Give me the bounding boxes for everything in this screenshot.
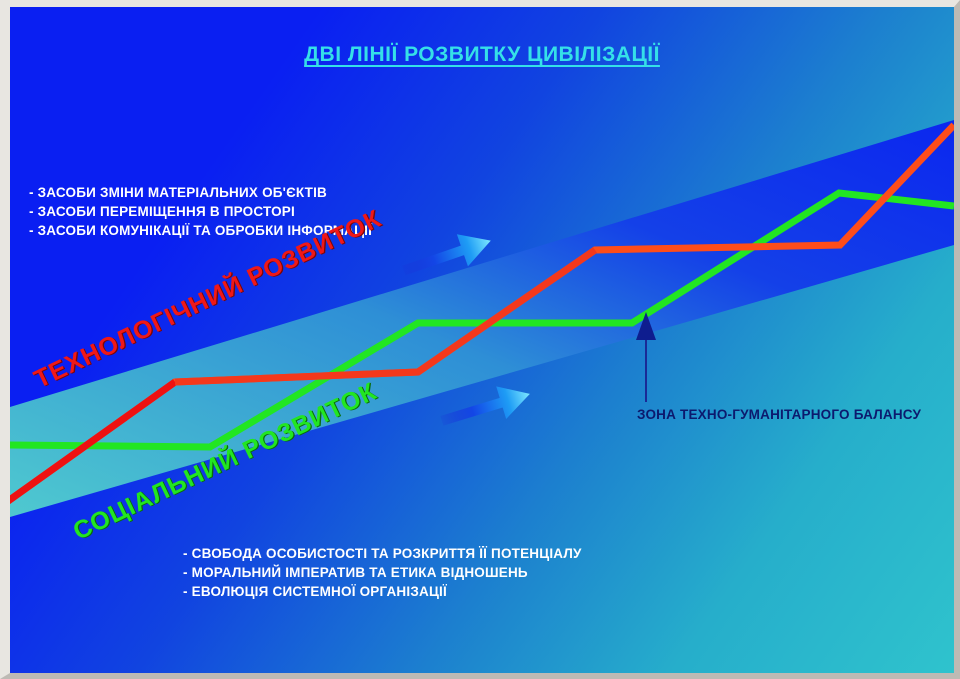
bullet-item: - ЗАСОБИ ЗМІНИ МАТЕРІАЛЬНИХ ОБ'ЄКТІВ xyxy=(29,183,372,202)
page-title: ДВІ ЛІНІЇ РОЗВИТКУ ЦИВІЛІЗАЦІЇ xyxy=(10,43,954,67)
up-arrow-icon xyxy=(636,312,656,402)
bullet-item: - ЗАСОБИ ПЕРЕМІЩЕННЯ В ПРОСТОРІ xyxy=(29,202,372,221)
social-bullets: - СВОБОДА ОСОБИСТОСТІ ТА РОЗКРИТТЯ ЇЇ ПО… xyxy=(183,544,582,601)
bullet-item: - МОРАЛЬНИЙ ІМПЕРАТИВ ТА ЕТИКА ВІДНОШЕНЬ xyxy=(183,563,582,582)
balance-zone-label: ЗОНА ТЕХНО-ГУМАНІТАРНОГО БАЛАНСУ xyxy=(637,407,921,422)
bullet-item: - ЕВОЛЮЦІЯ СИСТЕМНОЇ ОРГАНІЗАЦІЇ xyxy=(183,582,582,601)
slide-canvas: ДВІ ЛІНІЇ РОЗВИТКУ ЦИВІЛІЗАЦІЇ - ЗАСОБИ … xyxy=(10,7,954,673)
slide-stage: ДВІ ЛІНІЇ РОЗВИТКУ ЦИВІЛІЗАЦІЇ - ЗАСОБИ … xyxy=(0,0,960,679)
bullet-item: - СВОБОДА ОСОБИСТОСТІ ТА РОЗКРИТТЯ ЇЇ ПО… xyxy=(183,544,582,563)
